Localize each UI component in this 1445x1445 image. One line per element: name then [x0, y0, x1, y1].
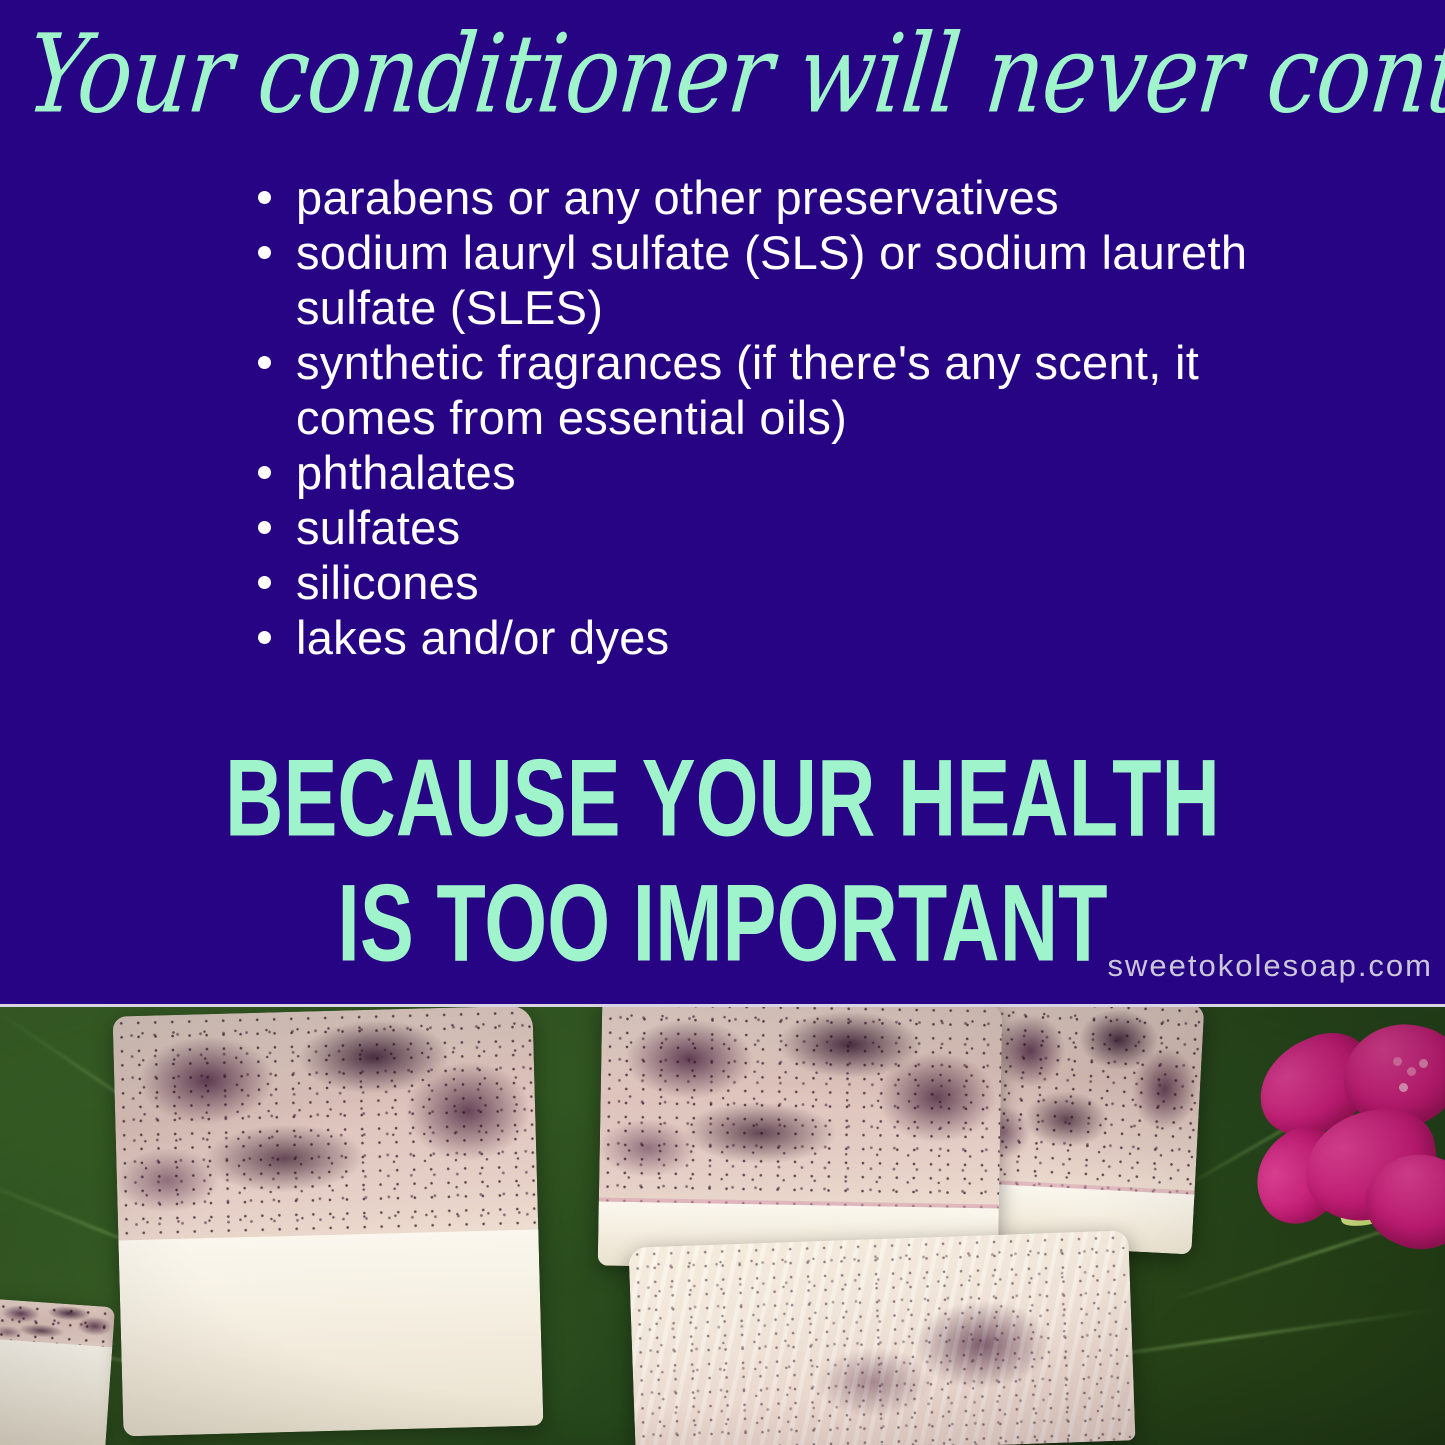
- soap-product-photo: [0, 1007, 1445, 1445]
- soap-bar: [0, 1299, 115, 1445]
- list-item: lakes and/or dyes: [250, 610, 1250, 665]
- list-item-label: silicones: [296, 556, 479, 609]
- bullet-dot-icon: [258, 631, 271, 644]
- list-item: parabens or any other preservatives: [250, 170, 1250, 225]
- bullet-dot-icon: [258, 521, 271, 534]
- list-item-label: sodium lauryl sulfate (SLS) or sodium la…: [296, 226, 1247, 334]
- excluded-ingredients-list: parabens or any other preservatives sodi…: [250, 170, 1250, 665]
- soap-top-face: [113, 1007, 539, 1252]
- list-item: sulfates: [250, 500, 1250, 555]
- poster: Your conditioner will never contain: par…: [0, 0, 1445, 1445]
- script-headline: Your conditioner will never contain:: [22, 16, 1406, 133]
- flower-stamen: [1393, 1057, 1402, 1066]
- soap-bar: [598, 1007, 1003, 1272]
- list-item-label: sulfates: [296, 501, 460, 554]
- bullet-dot-icon: [258, 246, 271, 259]
- website-url: sweetokolesoap.com: [1108, 948, 1434, 984]
- soap-top-face: [974, 1007, 1204, 1201]
- list-item-label: synthetic fragrances (if there's any sce…: [296, 336, 1199, 444]
- list-item: phthalates: [250, 445, 1250, 500]
- purple-content-panel: Your conditioner will never contain: par…: [0, 0, 1445, 1006]
- bullet-dot-icon: [258, 466, 271, 479]
- health-statement: BECAUSE YOUR HEALTH IS TOO IMPORTANT: [198, 735, 1246, 985]
- soap-cream-base: [0, 1339, 112, 1445]
- soap-speckles: [599, 1007, 1003, 1218]
- soap-top-face: [599, 1007, 1003, 1218]
- soap-bar: [113, 1007, 544, 1436]
- soap-bar: [972, 1007, 1205, 1255]
- bullet-dot-icon: [258, 576, 271, 589]
- list-item: sodium lauryl sulfate (SLS) or sodium la…: [250, 225, 1250, 335]
- list-item: silicones: [250, 555, 1250, 610]
- soap-top-face: [628, 1230, 1135, 1445]
- soap-bar: [628, 1230, 1135, 1445]
- list-item-label: parabens or any other preservatives: [296, 171, 1059, 224]
- bougainvillea-flower: [1217, 1023, 1445, 1253]
- bullet-dot-icon: [258, 191, 271, 204]
- soap-speckles: [113, 1007, 539, 1252]
- soap-speckles: [628, 1230, 1135, 1445]
- bullet-dot-icon: [258, 356, 271, 369]
- list-item: synthetic fragrances (if there's any sce…: [250, 335, 1250, 445]
- soap-speckles: [974, 1007, 1204, 1201]
- soap-cream-base: [118, 1229, 543, 1436]
- list-item-label: phthalates: [296, 446, 516, 499]
- list-item-label: lakes and/or dyes: [296, 611, 669, 664]
